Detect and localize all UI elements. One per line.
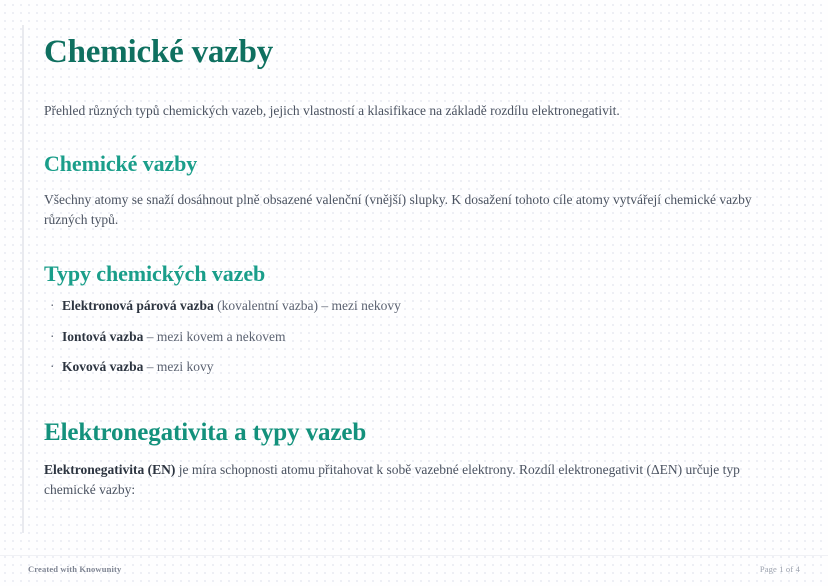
section-paragraph-chemicke-vazby: Všechny atomy se snaží dosáhnout plně ob… xyxy=(44,178,788,231)
list-item: · Elektronová párová vazba (kovalentní v… xyxy=(44,296,792,316)
list-item-rest: (kovalentní vazba) – mezi nekovy xyxy=(214,298,401,313)
footer-page-number: Page 1 of 4 xyxy=(760,564,800,574)
document-content: Chemické vazby Přehled různých typů chem… xyxy=(44,0,792,501)
bullet-marker-icon: · xyxy=(50,296,55,316)
list-item-rest: – mezi kovy xyxy=(143,359,213,374)
section-heading-elektronegativita: Elektronegativita a typy vazeb xyxy=(44,388,792,448)
list-item-lead: Iontová vazba xyxy=(62,329,143,344)
document-subtitle: Přehled různých typů chemických vazeb, j… xyxy=(44,72,792,121)
list-item-lead: Kovová vazba xyxy=(62,359,143,374)
footer-credit: Created with Knowunity xyxy=(28,564,121,574)
paragraph-lead: Elektronegativita (EN) xyxy=(44,462,175,477)
document-page: Chemické vazby Přehled různých typů chem… xyxy=(0,0,828,586)
page-title: Chemické vazby xyxy=(44,0,792,72)
bullet-marker-icon: · xyxy=(50,357,55,377)
list-item: · Kovová vazba – mezi kovy xyxy=(44,357,792,377)
left-accent-rule xyxy=(22,25,24,533)
section-paragraph-elektronegativita: Elektronegativita (EN) je míra schopnost… xyxy=(44,448,788,501)
list-item-rest: – mezi kovem a nekovem xyxy=(143,329,285,344)
list-item: · Iontová vazba – mezi kovem a nekovem xyxy=(44,327,792,347)
footer-inner: Created with Knowunity Page 1 of 4 xyxy=(0,556,828,586)
bond-types-list: · Elektronová párová vazba (kovalentní v… xyxy=(44,287,792,377)
page-footer: Created with Knowunity Page 1 of 4 xyxy=(0,555,828,586)
list-item-lead: Elektronová párová vazba xyxy=(62,298,214,313)
section-heading-chemicke-vazby: Chemické vazby xyxy=(44,121,792,177)
bullet-marker-icon: · xyxy=(50,327,55,347)
section-heading-typy-chemickych-vazeb: Typy chemických vazeb xyxy=(44,231,792,287)
